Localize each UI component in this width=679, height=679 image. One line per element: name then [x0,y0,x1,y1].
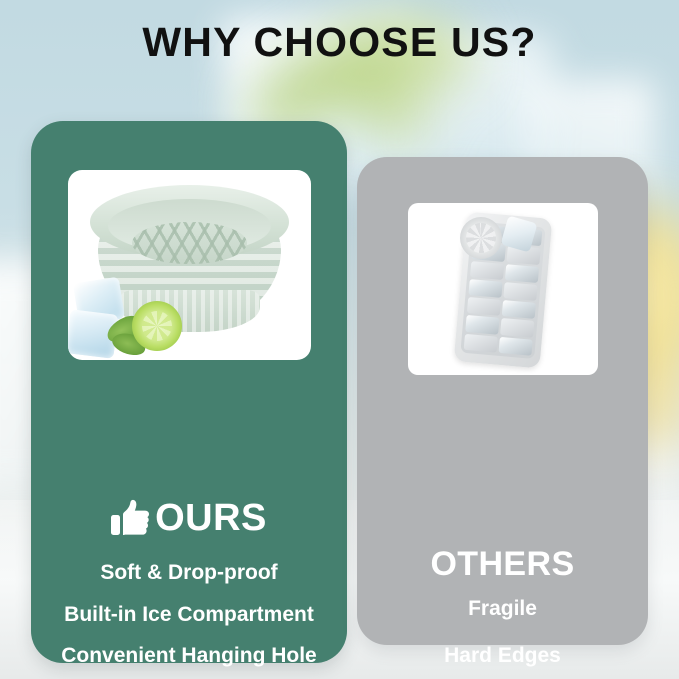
thumbs-up-icon [111,499,151,537]
tray-cell [467,297,501,316]
others-feature-list: Fragile Hard Edges Large Volume Extra Ic… [357,597,648,679]
ours-feature-list: Soft & Drop-proof Built-in Ice Compartme… [31,561,347,679]
ours-heading-row: OURS [31,499,347,537]
tray-cell [499,337,533,356]
list-item: Soft & Drop-proof [31,561,347,585]
ice-cube-tray-illustration [408,203,598,375]
others-card: OTHERS Fragile Hard Edges Large Volume E… [357,157,648,645]
ours-heading-label: OURS [155,499,267,537]
list-item: Built-in Ice Compartment [31,603,347,627]
list-item: Fragile [357,597,648,621]
tray-cell [464,334,498,353]
tray-cell [500,318,534,337]
ours-product-image [68,170,311,360]
page-title: WHY CHOOSE US? [0,19,679,66]
tray-cell [465,315,499,334]
tray-cell [470,261,504,280]
lemon-slice-core [466,223,496,253]
list-item: Convenient Hanging Hole [31,644,347,668]
collapsible-ice-bowl-illustration [68,170,311,360]
honeycomb-ice-compartment [132,222,247,264]
tray-cell [468,279,502,298]
tray-cell [505,264,539,283]
tray-cell [502,300,536,319]
others-product-image [408,203,598,375]
others-heading-label: OTHERS [357,545,648,584]
list-item: Hard Edges [357,644,648,668]
infographic-canvas: WHY CHOOSE US? OURS [0,0,679,679]
ours-card: OURS Soft & Drop-proof Built-in Ice Comp… [31,121,347,663]
lime-slice-core [142,311,172,341]
tray-cell [503,282,537,301]
